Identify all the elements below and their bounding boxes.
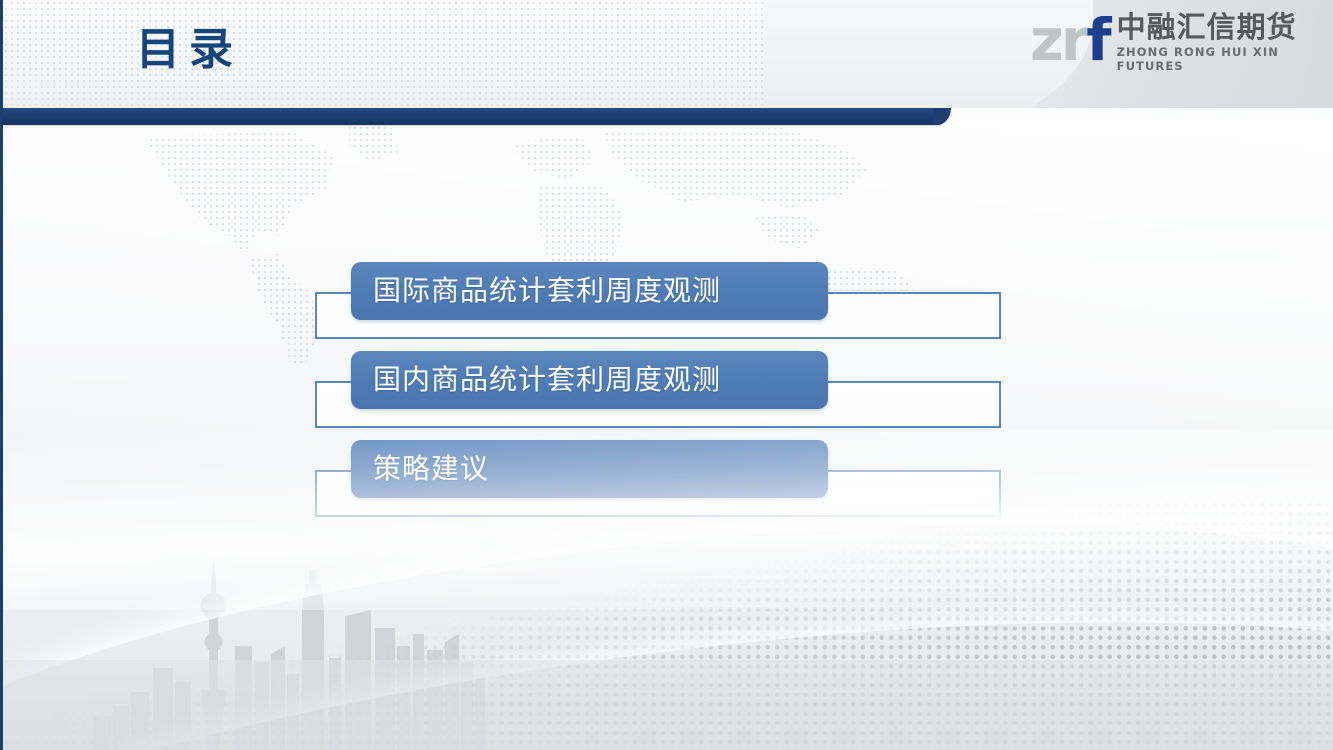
bottom-gray-band xyxy=(3,660,1333,750)
agenda-item-1[interactable]: 国际商品统计套利周度观测 xyxy=(3,262,1333,352)
agenda-item-1-label: 国际商品统计套利周度观测 xyxy=(373,274,721,308)
navy-rule-taper xyxy=(933,108,957,125)
presentation-slide: 目录 zrf 中融汇信期货 ZHONG RONG HUI XIN FUTURES… xyxy=(0,0,1333,750)
agenda-item-3-label: 策略建议 xyxy=(373,452,489,486)
agenda-item-1-pill[interactable]: 国际商品统计套利周度观测 xyxy=(351,262,828,320)
agenda-item-2[interactable]: 国内商品统计套利周度观测 xyxy=(3,351,1333,441)
agenda-item-2-pill[interactable]: 国内商品统计套利周度观测 xyxy=(351,351,828,409)
agenda-item-2-label: 国内商品统计套利周度观测 xyxy=(373,363,721,397)
agenda-item-3-pill[interactable]: 策略建议 xyxy=(351,440,828,498)
